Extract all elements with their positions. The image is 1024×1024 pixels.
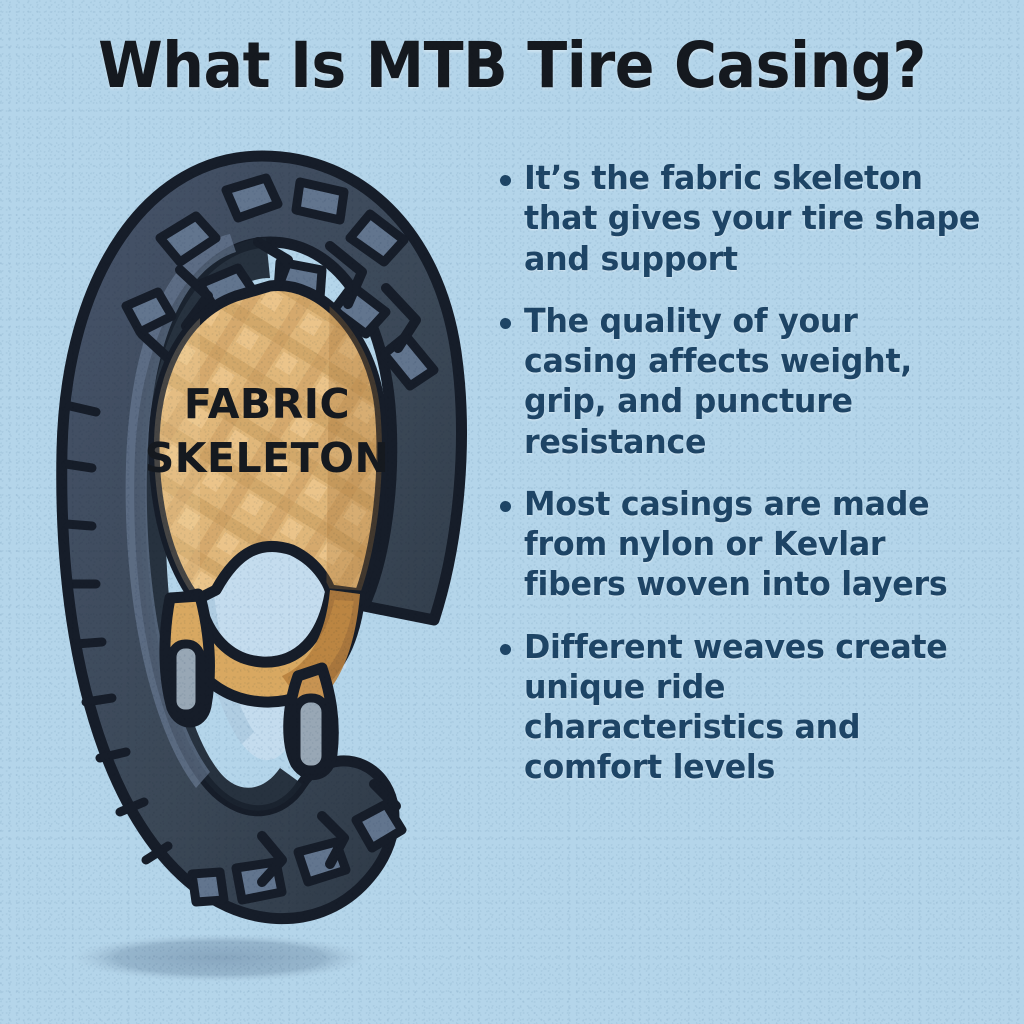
tire-illustration: FABRIC SKELETON	[30, 120, 500, 1010]
bullet-text: It’s the fabric skeleton that gives your…	[524, 158, 981, 279]
list-item: Most casings are made from nylon or Kevl…	[500, 484, 1000, 605]
bullet-text: Most casings are made from nylon or Kevl…	[524, 484, 981, 605]
bullet-text: The quality of your casing affects weigh…	[524, 301, 981, 462]
casing-label-line2: SKELETON	[145, 434, 390, 482]
bullet-dot-icon	[500, 175, 511, 186]
bullet-dot-icon	[500, 501, 511, 512]
list-item: Different weaves create unique ride char…	[500, 627, 1000, 788]
tire-bead-left	[165, 596, 209, 722]
bullet-list: It’s the fabric skeleton that gives your…	[500, 158, 1000, 810]
list-item: The quality of your casing affects weigh…	[500, 301, 1000, 462]
ground-shadow	[72, 934, 368, 982]
tire-bead-right	[289, 668, 334, 775]
page-title: What Is MTB Tire Casing?	[36, 34, 988, 97]
casing-label-line1: FABRIC	[184, 380, 350, 428]
infographic-canvas: What Is MTB Tire Casing?	[0, 0, 1024, 1024]
bullet-text: Different weaves create unique ride char…	[524, 627, 981, 788]
list-item: It’s the fabric skeleton that gives your…	[500, 158, 1000, 279]
bullet-dot-icon	[500, 318, 511, 329]
bullet-dot-icon	[500, 644, 511, 655]
